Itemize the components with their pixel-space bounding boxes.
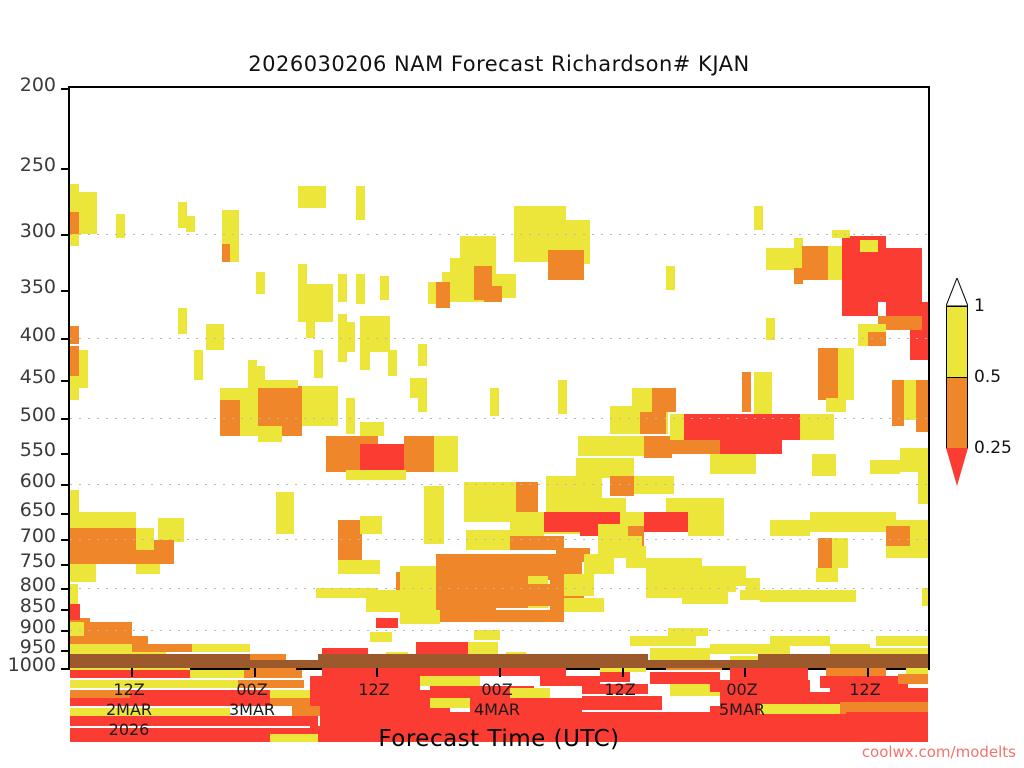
heatmap-cell [466,530,510,550]
heatmap-cell [500,610,564,622]
heatmap-cell [464,482,516,522]
heatmap-cell [900,448,928,472]
heatmap-cell [846,712,928,724]
heatmap-cell [810,512,896,532]
heatmap-cell [302,386,338,426]
terrain-block [318,654,648,668]
y-axis-tick [61,338,70,340]
heatmap-cell [370,316,390,352]
heatmap-cell [356,274,365,304]
heatmap-cell [192,644,250,652]
heatmap-cell [434,436,458,472]
heatmap-cell [484,286,502,302]
heatmap-cell [626,546,646,568]
heatmap-cell [586,498,626,512]
y-axis-tick [61,418,70,420]
heatmap-cell [842,292,878,316]
y-axis-tick-label: 1000 [8,656,56,675]
heatmap-cell [418,344,427,366]
heatmap-cell [346,322,355,352]
y-axis-tick [61,539,70,541]
heatmap-cell [100,512,136,528]
heatmap-cell [868,332,886,346]
heatmap-cell [652,388,676,412]
heatmap-cell [70,346,79,370]
y-axis-tick [61,588,70,590]
y-axis-tick-label: 850 [20,597,56,616]
heatmap-cell [876,248,922,302]
heatmap-cell [178,308,187,334]
colorbar-separator [946,306,968,307]
heatmap-cell [410,378,419,398]
heatmap-cell [892,380,904,426]
heatmap-cell [360,516,382,534]
heatmap-cell [70,376,79,400]
heatmap-cell [802,246,828,280]
heatmap-cell [258,426,282,442]
heatmap-cell [338,520,362,564]
heatmap-cell [84,622,132,636]
y-axis-tick [61,234,70,236]
heatmap-cell [910,330,928,360]
heatmap-cell [306,284,324,322]
colorbar-segment [946,306,968,377]
heatmap-cell [360,316,370,370]
watermark: coolwx.com/modelts [862,743,1016,761]
y-axis-tick-label: 350 [20,278,56,297]
heatmap-cell [366,590,406,612]
heatmap-cell [70,234,79,246]
heatmap-cell [424,486,444,544]
heatmap-cell [190,670,244,678]
y-axis-tick [61,380,70,382]
heatmap-cell [346,398,355,434]
colorbar-segment [946,377,968,448]
heatmap-cell [206,324,224,350]
heatmap-cell [564,574,594,596]
heatmap-cell [436,282,450,308]
heatmap-cell [474,630,500,640]
heatmap-cell [70,184,79,212]
heatmap-cell [818,538,832,568]
gridline [70,630,928,631]
heatmap-cell [468,642,498,654]
heatmap-cell [79,350,88,388]
y-axis-tick [61,630,70,632]
y-axis-tick-label: 750 [20,552,56,571]
heatmap-cell [682,592,728,604]
heatmap-cell [576,458,634,478]
heatmap-cell [70,564,96,582]
heatmap-cell [440,610,500,622]
heatmap-cell [644,436,672,458]
gridline [70,484,928,485]
heatmap-cell [830,644,870,654]
y-axis-tick-label: 900 [20,618,56,637]
heatmap-cell [306,322,315,338]
heatmap-cell [298,264,307,282]
heatmap-cell [388,350,397,376]
x-axis-tick-label: 12Z [570,680,670,700]
y-axis-tick-label: 650 [20,501,56,520]
heatmap-cell [754,206,763,230]
heatmap-cell [766,318,775,340]
heatmap-cell [70,326,79,344]
heatmap-cell [544,512,580,532]
y-axis-tick [61,668,70,670]
heatmap-cell [380,276,389,300]
gridline [70,338,928,339]
heatmap-cell [730,668,808,680]
heatmap-cell [186,216,195,232]
page-title: 2026030206 NAM Forecast Richardson# KJAN [68,52,930,76]
x-axis-tick [622,668,624,677]
heatmap-cell [400,610,440,624]
heatmap-cell [886,546,928,558]
x-axis-tick-label: 00Z4MAR [447,680,547,720]
heatmap-cell [70,212,79,234]
heatmap-cell [230,210,239,262]
y-axis-tick-label: 250 [20,156,56,175]
heatmap-cell [610,476,634,496]
y-axis-tick-label: 800 [20,576,56,595]
y-axis-tick-label: 450 [20,368,56,387]
heatmap-cell [818,348,838,400]
terrain-block [70,654,250,668]
heatmap-cell [510,512,544,536]
heatmap-cell [670,440,720,454]
terrain-block [648,660,758,668]
gridline [70,234,928,235]
y-axis-tick-label: 600 [20,472,56,491]
y-axis-tick [61,453,70,455]
x-axis-tick [254,668,256,677]
heatmap-cell [404,436,434,472]
heatmap-cell [720,440,782,454]
heatmap-cell [634,476,674,494]
heatmap-cell [564,598,604,612]
heatmap-cell [742,372,751,412]
heatmap-cell [298,186,326,208]
heatmap-cell [88,192,97,234]
heatmap-cell [838,348,854,400]
y-axis-tick [61,484,70,486]
y-axis-tick [61,609,70,611]
heatmap-cell [370,632,392,642]
heatmap-cell [918,470,928,504]
heatmap-cell [558,380,567,414]
heatmap-cell [910,526,928,548]
heatmap-cell [338,314,347,340]
heatmap-cell [256,272,265,294]
heatmap-cell [132,644,192,652]
y-axis-tick [61,564,70,566]
colorbar-label: 0.25 [974,440,1012,457]
terrain-block [758,654,928,668]
heatmap-cell [70,528,100,564]
y-axis-tick [61,290,70,292]
x-axis-tick-label: 00Z3MAR [202,680,302,720]
plot-area [68,86,930,670]
gridline [70,418,928,419]
heatmap-cell [666,266,675,290]
x-axis-tick [499,668,501,677]
heatmap-cell [338,274,347,302]
x-axis-tick-label: 00Z5MAR [692,680,792,720]
heatmap-cell [644,512,688,532]
heatmap-cell [244,670,302,678]
heatmap-cell [320,706,450,726]
heatmap-grid [70,88,928,668]
heatmap-cell [356,186,365,220]
heatmap-cell [886,526,910,546]
heatmap-cell [70,604,80,620]
heatmap-cell [258,380,298,388]
heatmap-cell [346,470,406,480]
colorbar-separator [946,377,968,378]
heatmap-cell [338,560,380,574]
gridline [70,588,928,589]
y-axis-tick [61,88,70,90]
heatmap-cell [100,550,154,564]
y-axis-tick-label: 700 [20,527,56,546]
heatmap-cell [416,642,468,654]
y-axis-tick-label: 300 [20,222,56,241]
x-axis-tick [131,668,133,677]
y-axis-tick-label: 200 [20,76,56,95]
heatmap-cell [746,578,760,592]
heatmap-cell [578,436,644,456]
heatmap-cell [418,378,427,412]
heatmap-cell [630,636,696,646]
terrain-block [250,660,318,668]
heatmap-cell [488,554,548,576]
heatmap-cell [832,538,848,568]
heatmap-cell [376,618,398,628]
colorbar-top-arrow [946,278,968,306]
heatmap-cell [360,422,384,436]
heatmap-cell [916,380,928,432]
heatmap-cell [324,284,333,322]
heatmap-cell [598,524,628,540]
x-axis-tick [867,668,869,677]
heatmap-cell [766,248,794,270]
x-axis-title: Forecast Time (UTC) [68,726,930,752]
heatmap-cell [548,250,584,280]
x-axis-tick [376,668,378,677]
y-axis-tick [61,650,70,652]
heatmap-cell [922,588,928,606]
heatmap-cell [812,454,836,476]
heatmap-cell [710,454,756,474]
heatmap-cell [826,398,846,412]
heatmap-cell [79,192,88,234]
y-axis-tick-label: 550 [20,441,56,460]
heatmap-cell [770,636,830,646]
heatmap-cell [688,512,724,536]
heatmap-cell [870,460,900,474]
heatmap-cell [754,372,772,420]
heatmap-cell [314,350,323,378]
heatmap-cell [760,590,796,602]
heatmap-cell [154,540,174,564]
colorbar-label: 0.5 [974,369,1001,386]
heatmap-cell [770,520,810,536]
heatmap-cell [338,340,347,362]
colorbar [946,306,968,448]
heatmap-cell [436,554,488,584]
y-axis-tick-label: 400 [20,326,56,345]
x-axis-tick-label: 12Z [324,680,424,700]
colorbar-bottom-arrow [946,448,968,486]
x-axis-tick [744,668,746,677]
heatmap-cell [276,492,294,534]
colorbar-label: 1 [974,298,985,315]
terrain-band [70,654,928,668]
heatmap-cell [828,246,842,280]
heatmap-cell [194,350,203,380]
heatmap-cell [860,240,878,252]
y-axis-tick-label: 500 [20,406,56,425]
y-axis-tick [61,168,70,170]
heatmap-cell [490,388,499,416]
y-axis-tick [61,513,70,515]
gridline [70,539,928,540]
heatmap-cell [816,568,838,582]
heatmap-cell [796,590,856,602]
heatmap-cell [876,636,928,646]
x-axis-tick-label: 12Z [815,680,915,700]
